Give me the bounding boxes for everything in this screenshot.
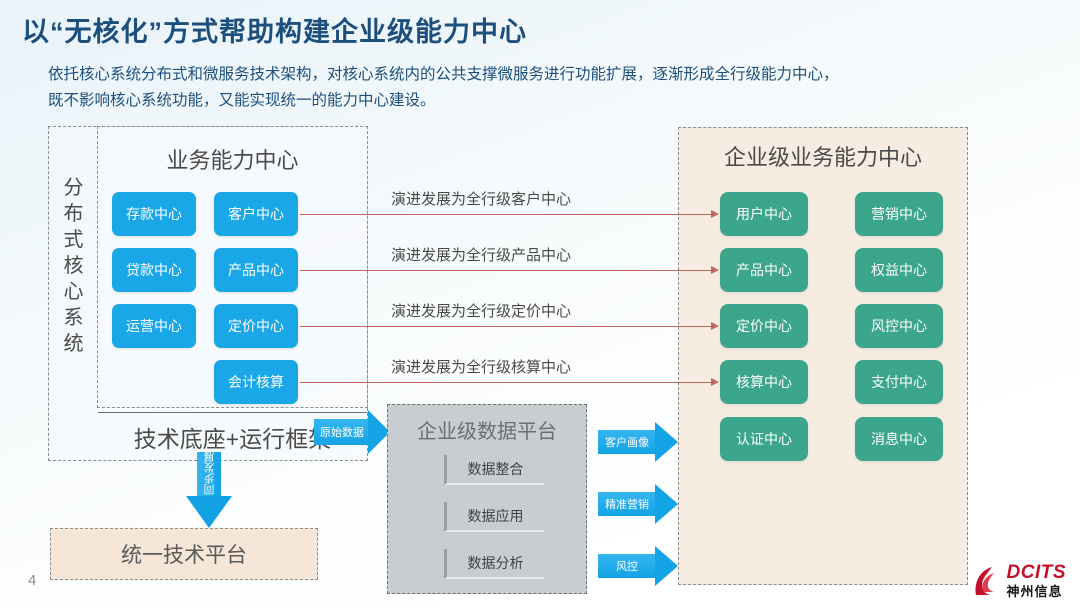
output-arrow-precision-marketing: 精准营销 [598, 484, 678, 524]
evolution-label-3: 演进发展为全行级定价中心 [391, 300, 571, 321]
evolution-arrow-head-2 [711, 266, 719, 274]
evolution-label-2: 演进发展为全行级产品中心 [391, 244, 571, 265]
enterprise-box-product[interactable]: 产品中心 [720, 248, 808, 292]
core-label-char: 系 [52, 305, 96, 331]
data-platform-item-application[interactable]: 数据应用 [444, 502, 544, 532]
output-arrow-head [655, 422, 678, 462]
output-arrow-risk-control: 风控 [598, 546, 678, 586]
capability-box-pricing[interactable]: 定价中心 [214, 304, 298, 348]
data-platform-item-analysis[interactable]: 数据分析 [444, 549, 544, 579]
data-platform-box: 企业级数据平台 数据整合 数据应用 数据分析 [387, 404, 587, 594]
data-platform-item-integration[interactable]: 数据整合 [444, 455, 544, 485]
enterprise-capability-center-title: 企业级业务能力中心 [678, 140, 968, 172]
core-label-char: 布 [52, 201, 96, 227]
enterprise-box-accounting[interactable]: 核算中心 [720, 360, 808, 404]
subtitle-line-2: 既不影响核心系统功能，又能实现统一的能力中心建设。 [48, 88, 978, 114]
capability-box-customer[interactable]: 客户中心 [214, 192, 298, 236]
logo-text: DCITS 神州信息 [1007, 563, 1067, 598]
logo-text-cn: 神州信息 [1007, 585, 1067, 598]
enterprise-box-user[interactable]: 用户中心 [720, 192, 808, 236]
business-capability-center-title: 业务能力中心 [97, 143, 368, 175]
capability-box-product[interactable]: 产品中心 [214, 248, 298, 292]
capability-box-accounting[interactable]: 会计核算 [214, 360, 298, 404]
core-label-char: 核 [52, 253, 96, 279]
output-arrow-label-1: 客户画像 [599, 430, 655, 454]
subtitle-line-1: 依托核心系统分布式和微服务技术架构，对核心系统内的公共支撑微服务进行功能扩展，逐… [48, 62, 978, 88]
evolution-arrow-line-1 [300, 214, 711, 215]
enterprise-box-pricing[interactable]: 定价中心 [720, 304, 808, 348]
output-arrow-label-3: 风控 [599, 554, 655, 578]
core-label-char: 分 [52, 175, 96, 201]
page-number: 4 [28, 572, 36, 589]
enterprise-box-message[interactable]: 消息中心 [855, 417, 943, 461]
capability-box-operation[interactable]: 运营中心 [112, 304, 196, 348]
data-platform-title: 企业级数据平台 [388, 415, 586, 444]
enterprise-box-auth[interactable]: 认证中心 [720, 417, 808, 461]
output-arrow-head [655, 546, 678, 586]
evolution-arrow-line-3 [300, 326, 711, 327]
evolution-arrow-line-2 [300, 270, 711, 271]
company-logo: DCITS 神州信息 [972, 563, 1067, 598]
core-label-char: 式 [52, 227, 96, 253]
evolution-label-4: 演进发展为全行级核算中心 [391, 356, 571, 377]
down-arrow-head [186, 496, 232, 528]
evolution-arrow-head-3 [711, 322, 719, 330]
enterprise-box-risk[interactable]: 风控中心 [855, 304, 943, 348]
unified-tech-platform-box: 统一技术平台 [50, 528, 318, 580]
page-title: 以“无核化”方式帮助构建企业级能力中心 [22, 10, 527, 49]
output-arrow-label-2: 精准营销 [599, 492, 655, 516]
logo-text-en: DCITS [1007, 563, 1067, 582]
core-label-char: 统 [52, 331, 96, 357]
raw-data-arrow-label: 原始数据 [316, 419, 368, 445]
slide-canvas: 以“无核化”方式帮助构建企业级能力中心 依托核心系统分布式和微服务技术架构，对核… [0, 0, 1080, 608]
evolution-arrow-line-4 [300, 382, 711, 383]
output-arrow-customer-profile: 客户画像 [598, 422, 678, 462]
enterprise-box-marketing[interactable]: 营销中心 [855, 192, 943, 236]
output-arrow-head [655, 484, 678, 524]
evolution-label-1: 演进发展为全行级客户中心 [391, 188, 571, 209]
capability-box-deposit[interactable]: 存款中心 [112, 192, 196, 236]
evolution-arrow-head-1 [711, 210, 719, 218]
capability-box-loan[interactable]: 贷款中心 [112, 248, 196, 292]
evolution-arrow-head-4 [711, 378, 719, 386]
core-label-char: 心 [52, 279, 96, 305]
down-arrow-label: 同步发展 [182, 461, 238, 485]
raw-data-arrow: 原始数据 [314, 410, 390, 454]
enterprise-box-rights[interactable]: 权益中心 [855, 248, 943, 292]
distributed-core-system-label: 分 布 式 核 心 系 统 [52, 175, 96, 357]
enterprise-box-payment[interactable]: 支付中心 [855, 360, 943, 404]
dcits-mark-icon [972, 565, 1002, 597]
page-subtitle: 依托核心系统分布式和微服务技术架构，对核心系统内的公共支撑微服务进行功能扩展，逐… [48, 62, 978, 114]
sync-development-arrow: 同步发展 [186, 452, 232, 528]
